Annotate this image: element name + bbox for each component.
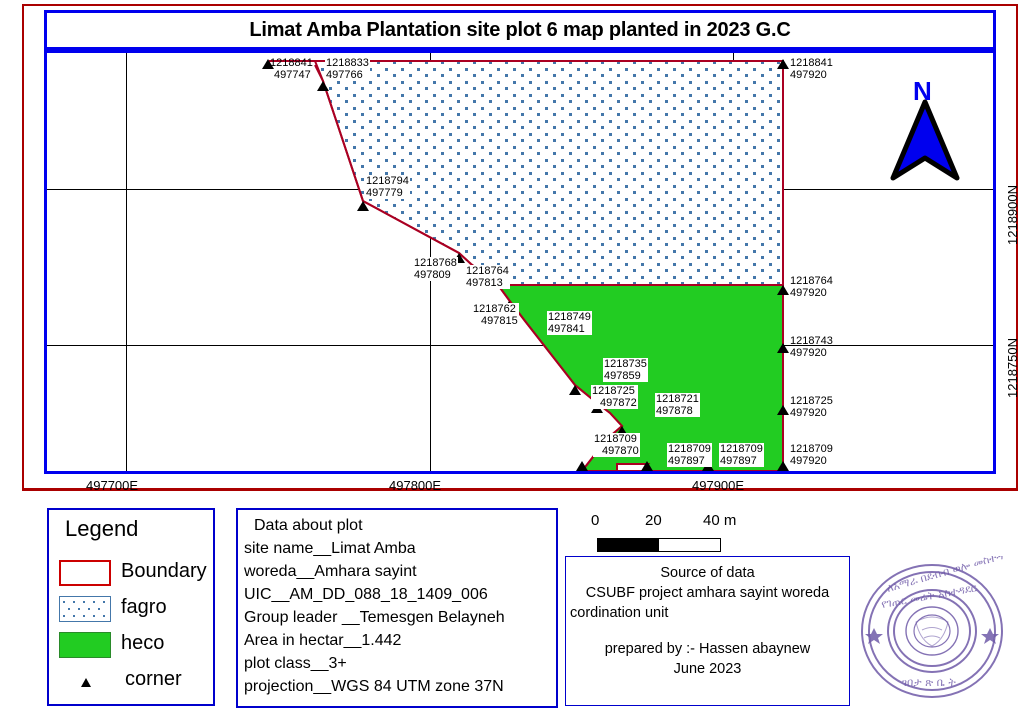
coord-north: 1218709 <box>720 443 763 455</box>
plot-data-line: plot class__3+ <box>244 652 556 675</box>
scale-segment <box>598 539 659 551</box>
corner-marker <box>777 59 789 69</box>
map-frame[interactable]: 1218841 497747 1218833 497766 1218841 49… <box>44 50 996 474</box>
svg-text:ገበታ ጽ ቤ ት: ገበታ ጽ ቤ ት <box>902 676 956 689</box>
plot-data-line: woreda__Amhara sayint <box>244 560 556 583</box>
boundary-swatch-icon <box>59 560 111 586</box>
coord-east: 497747 <box>274 69 313 81</box>
scale-tick-label: 0 <box>591 512 599 529</box>
plot-data-line: site name__Limat Amba <box>244 537 556 560</box>
heco-swatch-icon <box>59 632 111 658</box>
prepared-by-line: prepared by :- Hassen abaynew <box>570 639 845 659</box>
legend-title: Legend <box>65 516 138 542</box>
source-heading: Source of data <box>570 563 845 583</box>
corner-triangle-icon <box>81 678 91 687</box>
scale-tick-label: 40 m <box>703 512 736 529</box>
coord-north: 1218794 <box>366 175 409 187</box>
coord-north: 1218841 <box>270 57 313 69</box>
coord-east: 497897 <box>668 455 711 467</box>
prepared-date: June 2023 <box>570 659 845 679</box>
source-box: Source of data CSUBF project amhara sayi… <box>565 556 850 706</box>
coord-north: 1218841 <box>790 57 833 69</box>
north-label: N <box>913 76 932 107</box>
corner-marker <box>777 285 789 295</box>
coord-east: 497813 <box>466 277 509 289</box>
map-canvas[interactable]: 1218841 497747 1218833 497766 1218841 49… <box>47 53 993 471</box>
coord-label: 1218841 497747 <box>269 57 314 81</box>
fagro-polygon <box>315 61 783 285</box>
legend-item-fagro[interactable]: fagro <box>59 594 209 624</box>
coord-label: 1218794 497779 <box>365 175 410 199</box>
plot-data-line: Group leader __Temesgen Belayneh <box>244 606 556 629</box>
corner-marker <box>641 461 653 471</box>
coord-label: 1218833 497766 <box>325 57 370 81</box>
coord-east: 497920 <box>790 455 833 467</box>
plot-data-line: Area in hectar__1.442 <box>244 629 556 652</box>
legend-item-boundary[interactable]: Boundary <box>59 558 209 588</box>
corner-marker <box>777 343 789 353</box>
scale-bar: 0 20 40 m <box>575 512 845 558</box>
official-stamp: ለአማራ በደብብ ወሎ መስተዳ የገጠር መሬት አስተዳደር ገበታ ጽ … <box>858 556 1006 706</box>
page-title: Limat Amba Plantation site plot 6 map pl… <box>249 19 790 42</box>
coord-label: 1218764 497920 <box>789 275 834 299</box>
coord-east: 497920 <box>790 287 833 299</box>
coord-north: 1218721 <box>656 393 699 405</box>
scale-bar-graphic <box>597 538 721 552</box>
x-axis: 497700E 497800E 497900E <box>44 478 996 498</box>
coord-east: 497897 <box>720 455 763 467</box>
coord-label: 1218735 497859 <box>603 358 648 382</box>
map-page: Limat Amba Plantation site plot 6 map pl… <box>0 0 1024 724</box>
legend-item-corner[interactable]: corner <box>59 666 209 696</box>
corner-marker <box>576 461 588 471</box>
coord-label: 1218709 497897 <box>719 443 764 467</box>
coord-label: 1218764 497813 <box>465 265 510 289</box>
legend-box: Legend Boundary <box>47 508 215 706</box>
coord-north: 1218762 <box>473 303 518 315</box>
coord-east: 497878 <box>656 405 699 417</box>
fagro-dots-icon <box>60 597 110 621</box>
coord-label: 1218768 497809 <box>413 257 458 281</box>
coord-east: 497872 <box>600 397 637 409</box>
coord-east: 497870 <box>602 445 639 457</box>
legend-item-heco[interactable]: heco <box>59 630 209 660</box>
coord-east: 497779 <box>366 187 409 199</box>
coord-east: 497766 <box>326 69 369 81</box>
scale-segment <box>659 539 720 551</box>
coord-north: 1218764 <box>790 275 833 287</box>
fagro-swatch-icon <box>59 596 111 622</box>
coord-north: 1218735 <box>604 358 647 370</box>
corner-marker <box>777 461 789 471</box>
coord-label: 1218725 497920 <box>789 395 834 419</box>
legend-item-label: fagro <box>121 596 167 619</box>
source-line: CSUBF project amhara sayint woreda <box>570 583 845 603</box>
map-title-box: Limat Amba Plantation site plot 6 map pl… <box>44 10 996 50</box>
coord-label: 1218762 497815 <box>472 303 519 327</box>
plot-data-line: projection__WGS 84 UTM zone 37N <box>244 675 556 698</box>
coord-north: 1218725 <box>592 385 637 397</box>
coord-north: 1218725 <box>790 395 833 407</box>
coord-label: 1218725 497872 <box>591 385 638 409</box>
x-tick-label: 497700E <box>86 478 138 493</box>
coord-east: 497815 <box>481 315 518 327</box>
legend-item-label: heco <box>121 632 164 655</box>
coord-north: 1218743 <box>790 335 833 347</box>
north-arrow: N <box>885 80 965 185</box>
coord-east: 497841 <box>548 323 591 335</box>
y-tick-label: 1218900N <box>1005 185 1020 245</box>
coord-east: 497809 <box>414 269 457 281</box>
coord-north: 1218833 <box>326 57 369 69</box>
coord-east: 497920 <box>790 407 833 419</box>
coord-north: 1218709 <box>668 443 711 455</box>
plot-data-line: UIC__AM_DD_088_18_1409_006 <box>244 583 556 606</box>
y-tick-label: 1218750N <box>1005 338 1020 398</box>
stamp-icon: ለአማራ በደብብ ወሎ መስተዳ የገጠር መሬት አስተዳደር ገበታ ጽ … <box>858 556 1006 706</box>
corner-marker <box>357 201 369 211</box>
coord-east: 497920 <box>790 69 833 81</box>
coord-label: 1218749 497841 <box>547 311 592 335</box>
plot-polygons <box>47 53 993 471</box>
corner-marker <box>569 385 581 395</box>
coord-label: 1218709 497870 <box>593 433 640 457</box>
x-tick-label: 497900E <box>692 478 744 493</box>
x-tick-label: 497800E <box>389 478 441 493</box>
plot-data-heading: Data about plot <box>244 514 556 537</box>
corner-marker <box>317 81 329 91</box>
plot-data-box: Data about plot site name__Limat Amba wo… <box>236 508 558 708</box>
coord-label: 1218709 497920 <box>789 443 834 467</box>
scale-tick-label: 20 <box>645 512 662 529</box>
corner-marker <box>777 405 789 415</box>
coord-north: 1218768 <box>414 257 457 269</box>
source-line: cordination unit <box>570 603 845 623</box>
coord-label: 1218841 497920 <box>789 57 834 81</box>
coord-east: 497859 <box>604 370 647 382</box>
coord-east: 497920 <box>790 347 833 359</box>
coord-label: 1218743 497920 <box>789 335 834 359</box>
coord-north: 1218709 <box>594 433 639 445</box>
coord-north: 1218764 <box>466 265 509 277</box>
legend-item-label: corner <box>125 668 182 691</box>
coord-north: 1218709 <box>790 443 833 455</box>
coord-north: 1218749 <box>548 311 591 323</box>
coord-label: 1218709 497897 <box>667 443 712 467</box>
coord-label: 1218721 497878 <box>655 393 700 417</box>
legend-item-label: Boundary <box>121 560 207 583</box>
